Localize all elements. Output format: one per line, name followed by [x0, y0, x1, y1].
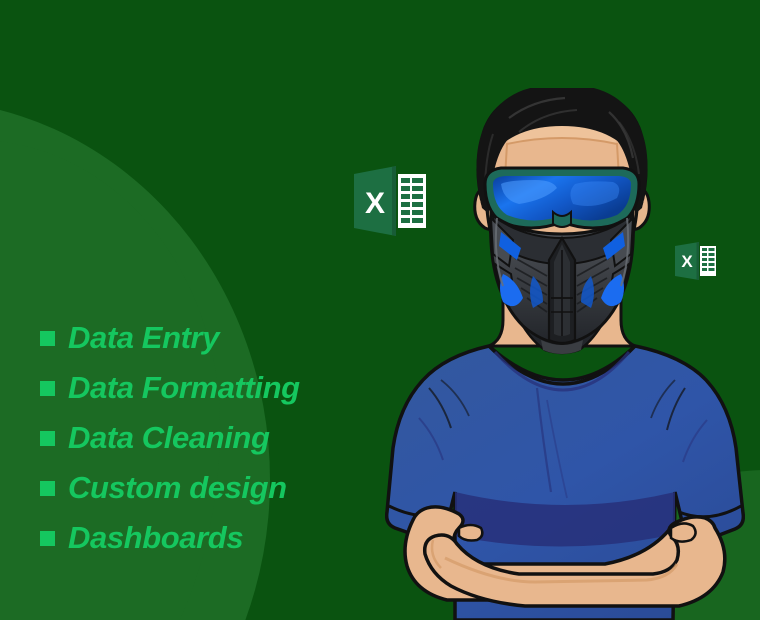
- feature-label: Dashboards: [68, 522, 243, 553]
- microsoft-excel-icon-small: X: [674, 239, 718, 283]
- square-bullet-icon: [40, 481, 55, 496]
- feature-label: Data Formatting: [68, 372, 300, 403]
- square-bullet-icon: [40, 381, 55, 396]
- list-item: Data Cleaning: [40, 412, 440, 462]
- excel-letter-x: X: [681, 252, 693, 271]
- feature-label: Data Entry: [68, 322, 219, 353]
- square-bullet-icon: [40, 331, 55, 346]
- feature-label: Custom design: [68, 472, 287, 503]
- service-feature-list: Data Entry Data Formatting Data Cleaning…: [40, 312, 440, 562]
- list-item: Custom design: [40, 462, 440, 512]
- feature-label: Data Cleaning: [68, 422, 270, 453]
- list-item: Data Entry: [40, 312, 440, 362]
- excel-letter-x: X: [365, 187, 385, 220]
- microsoft-excel-icon-large: X: [352, 162, 430, 240]
- list-item: Data Formatting: [40, 362, 440, 412]
- square-bullet-icon: [40, 531, 55, 546]
- list-item: Dashboards: [40, 512, 440, 562]
- promo-banner: X X: [0, 0, 760, 620]
- square-bullet-icon: [40, 431, 55, 446]
